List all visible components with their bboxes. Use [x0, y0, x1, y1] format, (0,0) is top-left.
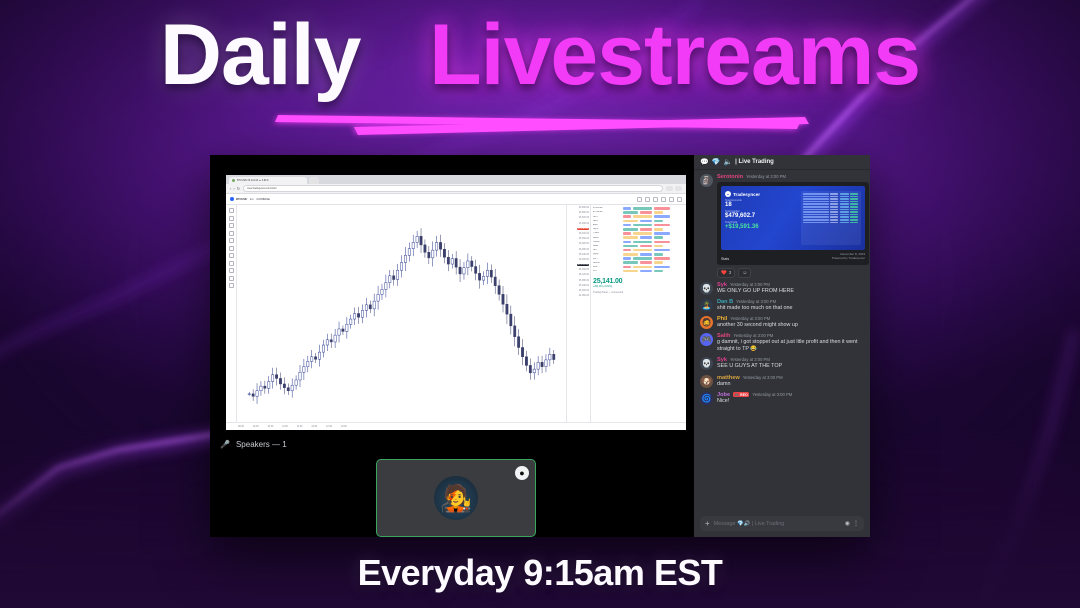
watchlist-value-bar [623, 232, 631, 235]
watchlist-value-bar [633, 249, 652, 252]
drawing-toolbar [226, 205, 237, 422]
message-timestamp: Yesterday at 3:00 PM [736, 299, 776, 304]
message-timestamp: Yesterday at 3:00 PM [752, 392, 792, 397]
author-badge: 🎮 RED [733, 392, 749, 397]
price-tick: 24,960.00 [579, 295, 589, 297]
chat-message[interactable]: 💀SykYesterday at 3:00 PMWE ONLY GO UP FR… [700, 282, 864, 295]
symbol-selector[interactable]: BTCUSD [230, 197, 247, 201]
stat2-value: $479,602.7 [725, 213, 801, 219]
watchlist-value-bar [623, 211, 638, 214]
fib-tool-icon[interactable] [229, 223, 234, 228]
browser-tab-new[interactable] [309, 177, 319, 184]
embed-table-row [803, 193, 859, 195]
message-list[interactable]: 🗿SerotoninYesterday at 3:00 PM◓Tradesync… [694, 170, 870, 512]
title-block: Daily Livestreams [0, 10, 1080, 142]
watchlist-value-bar [623, 228, 638, 231]
embed-table-row [803, 211, 859, 213]
embed-table-row [803, 196, 859, 198]
watchlist-value-bar [640, 253, 652, 256]
watchlist-value-bar [623, 253, 638, 256]
message-author[interactable]: Serotonin [717, 174, 743, 180]
eye-tool-icon[interactable] [229, 276, 234, 281]
message-timestamp: Yesterday at 3:00 PM [730, 316, 770, 321]
watchlist-value-bar [654, 224, 670, 227]
tradingview-icon [232, 179, 235, 182]
reaction-emoji: ❤️ [721, 270, 727, 276]
watchlist-value-bar [654, 232, 670, 235]
magnet-tool-icon[interactable] [229, 261, 234, 266]
text-tool-icon[interactable] [229, 238, 234, 243]
watchlist-value-bar [623, 224, 631, 227]
watchlist-value-bar [623, 270, 638, 273]
message-body: matthewYesterday at 3:00 PMdamn [717, 375, 864, 388]
watchlist-value-bar [654, 266, 670, 269]
watchlist-symbol: NVDA [593, 241, 621, 243]
message-text: g damnit, i got stoppet out at just litl… [717, 339, 864, 353]
price-tick: 25,120.00 [579, 274, 589, 276]
title-underline [260, 96, 820, 142]
time-tick: 09:30 [238, 426, 244, 428]
message-input[interactable]: + Message 💎🔊 | Live Trading ◉ ⋮ [700, 516, 864, 531]
watchlist-value-bar [654, 249, 670, 252]
message-author[interactable]: Syk [717, 282, 727, 288]
price-tick: 25,200.00 [579, 259, 589, 261]
last-price-block: 25,141.00 +201.00 (+0.81%) Trading Panel… [593, 278, 684, 294]
price-tick: 25,320.00 [579, 243, 589, 245]
watchlist-value-bar [640, 270, 652, 273]
message-body: SerotoninYesterday at 3:00 PM◓Tradesynce… [717, 174, 864, 278]
embed-brand: ◓Tradesyncer [725, 191, 801, 197]
watchlist-value-bar [623, 207, 631, 210]
add-attachment-icon[interactable]: + [705, 520, 710, 528]
message-text: shit made too much on that one [717, 305, 864, 312]
embed-image: ◓TradesyncerTotal Accounts18Total Capita… [721, 186, 865, 250]
stat3-value: +$19,591.36 [725, 224, 801, 230]
watchlist-value-bar [633, 224, 652, 227]
browser-tab-title: BTCUSD 25,141.00 ▲ 0.81% [237, 179, 269, 182]
watchlist-value-bar [654, 261, 663, 264]
screen-share-pane: BTCUSD 25,141.00 ▲ 0.81% ‹ › ↻ www.tradi… [210, 155, 694, 537]
emoji-icon[interactable]: ◉ [845, 520, 850, 527]
watchlist-value-bar [654, 245, 663, 248]
embed-table-row [803, 214, 859, 216]
watchlist-value-bar [654, 211, 663, 214]
time-tick: 13:00 [341, 426, 347, 428]
title-word-daily: Daily [160, 7, 361, 103]
add-reaction-icon[interactable]: ☺ [738, 268, 751, 278]
browser-url-bar: ‹ › ↻ www.tradingview.com/chart/ [226, 184, 686, 194]
trendline-tool-icon[interactable] [229, 216, 234, 221]
message-text: WE ONLY GO UP FROM HERE [717, 288, 864, 295]
watchlist-value-bar [654, 236, 663, 239]
watchlist-value-bar [623, 215, 631, 218]
price-tick: 25,440.00 [577, 228, 589, 230]
watchlist-row[interactable]: NVDA [593, 241, 684, 244]
cursor-tool-icon[interactable] [229, 208, 234, 213]
watchlist-symbol: SPX [593, 216, 621, 218]
chat-message[interactable]: 🎮SalihYesterday at 3:00 PMg damnit, i go… [700, 333, 864, 353]
chat-message[interactable]: 💀SykYesterday at 3:00 PMSEE U GUYS AT TH… [700, 357, 864, 370]
price-tick: 25,480.00 [579, 223, 589, 225]
message-timestamp: Yesterday at 3:00 PM [743, 375, 783, 380]
avatar[interactable]: 🎮 [700, 333, 713, 346]
symbol-label: BTCUSD [236, 198, 247, 201]
browser-nav-controls: ‹ › ↻ [230, 187, 240, 191]
watchlist-value-bar [654, 220, 663, 223]
watchlist-value-bar [633, 241, 652, 244]
watchlist-row[interactable]: SPX [593, 215, 684, 218]
price-tick: 25,400.00 [579, 233, 589, 235]
forward-icon[interactable]: › [233, 187, 234, 191]
measure-tool-icon[interactable] [229, 253, 234, 258]
chart-footer-note: Trading Panel — Connected [593, 291, 684, 294]
price-tick: 25,000.00 [579, 290, 589, 292]
watchlist-value-bar [623, 236, 638, 239]
message-timestamp: Yesterday at 3:00 PM [746, 174, 786, 179]
price-axis[interactable]: 25,600.0025,560.0025,520.0025,480.0025,4… [566, 205, 590, 422]
embed-table-row [803, 216, 859, 218]
message-text: another 30 second might show up [717, 322, 864, 329]
price-tick: 25,600.00 [579, 207, 589, 209]
settings-icon[interactable] [669, 197, 674, 202]
avatar[interactable]: 🌀 [700, 392, 713, 405]
tradingview-browser-screenshot: BTCUSD 25,141.00 ▲ 0.81% ‹ › ↻ www.tradi… [226, 175, 686, 430]
time-tick: 11:30 [297, 426, 303, 428]
watchlist-value-bar [640, 261, 652, 264]
watchlist-symbol: ES1! [593, 224, 621, 226]
chat-input-wrap: + Message 💎🔊 | Live Trading ◉ ⋮ [694, 512, 870, 537]
browser-tab-active[interactable]: BTCUSD 25,141.00 ▲ 0.81% [229, 177, 307, 184]
profile-icon[interactable] [675, 186, 682, 191]
watchlist-symbol: NQ1! [593, 228, 621, 230]
watchlist-value-bar [623, 220, 638, 223]
watchlist-symbol: BTCUSD [593, 207, 621, 209]
alert-icon[interactable] [645, 197, 650, 202]
watchlist-symbol: TSLA [593, 232, 621, 234]
deafened-icon: ● [515, 466, 529, 480]
watchlist-symbol: GOLD [593, 262, 621, 264]
shapes-tool-icon[interactable] [229, 231, 234, 236]
last-price: 25,141.00 [593, 278, 684, 285]
reaction-count: 3 [729, 270, 732, 275]
watchlist-value-bar [640, 245, 652, 248]
candlestick-series [237, 205, 566, 422]
watchlist-row[interactable]: AAPL [593, 236, 684, 239]
watchlist-value-bar [633, 232, 652, 235]
extension-icon[interactable] [666, 186, 673, 191]
watchlist-value-bar [623, 266, 631, 269]
watchlist-row[interactable]: ES1! [593, 224, 684, 227]
watchlist-value-bar [654, 241, 670, 244]
message-author[interactable]: matthew [717, 375, 740, 381]
watchlist-row[interactable]: NDX [593, 220, 684, 223]
speakers-label: Speakers — 1 [236, 440, 287, 449]
watchlist-value-bar [640, 236, 652, 239]
watchlist-row[interactable]: NQ1! [593, 228, 684, 231]
discord-chat-panel: 💬 💎 🔈 | Live Trading 🗿SerotoninYesterday… [694, 155, 870, 537]
speech-bubble-icon: 💬 [700, 159, 709, 166]
message-timestamp: Yesterday at 3:00 PM [733, 333, 773, 338]
time-axis[interactable]: 09:3010:0010:3011:0011:3012:0012:3013:00 [226, 422, 686, 430]
watchlist-symbol: DXY [593, 258, 621, 260]
embed-brand-name: Tradesyncer [733, 192, 760, 197]
mic-icon: 🎤 [220, 440, 230, 449]
watchlist-symbol: ETHUSD [593, 211, 621, 213]
message-body: SykYesterday at 3:00 PMSEE U GUYS AT THE… [717, 357, 864, 370]
message-body: Jobe🎮 REDYesterday at 3:00 PMNice! [717, 392, 864, 405]
chat-message[interactable]: 🏝️Dan BYesterday at 3:00 PMshit made too… [700, 299, 864, 312]
avatar[interactable]: 🗿 [700, 174, 713, 187]
watchlist-row[interactable]: QQQ [593, 253, 684, 256]
watchlist-panel[interactable]: BTCUSDETHUSDSPXNDXES1!NQ1!TSLAAAPLNVDAAM… [590, 205, 686, 422]
url-input[interactable]: www.tradingview.com/chart/ [243, 185, 663, 192]
watchlist-row[interactable]: SPY [593, 249, 684, 252]
input-actions: ◉ ⋮ [845, 520, 859, 527]
embed-table-row [803, 203, 859, 205]
time-tick: 10:30 [268, 426, 274, 428]
current-price-tag: 25,141.00 [577, 264, 589, 266]
embed-table-row [803, 222, 859, 224]
watchlist-value-bar [633, 207, 652, 210]
watchlist-value-bar [640, 220, 652, 223]
watchlist-symbol: AMD [593, 245, 621, 247]
layout-icon[interactable] [661, 197, 666, 202]
avatar[interactable]: 🐶 [700, 375, 713, 388]
watchlist-row[interactable]: BTCUSD [593, 207, 684, 210]
watchlist-value-bar [633, 215, 652, 218]
watchlist-symbol: CL1! [593, 266, 621, 268]
watchlist-rows: BTCUSDETHUSDSPXNDXES1!NQ1!TSLAAAPLNVDAAM… [593, 207, 684, 272]
time-tick: 12:30 [326, 426, 332, 428]
symbol-icon [230, 197, 234, 201]
watchlist-value-bar [654, 207, 670, 210]
replay-icon[interactable] [653, 197, 658, 202]
watchlist-symbol: QQQ [593, 253, 621, 255]
embed-table-row [803, 198, 859, 200]
watchlist-value-bar [623, 241, 631, 244]
embed-table-row [803, 219, 859, 221]
embed-footer: StatsDecember 8, 2023Powered by Tradesyn… [721, 253, 865, 261]
watchlist-row[interactable]: CL1! [593, 266, 684, 269]
chart-body: 25,600.0025,560.0025,520.0025,480.0025,4… [226, 205, 686, 422]
price-tick: 25,080.00 [579, 280, 589, 282]
watchlist-value-bar [633, 266, 652, 269]
interval-selector[interactable]: 1m [250, 198, 254, 201]
more-icon[interactable]: ⋮ [853, 520, 859, 527]
app-screenshot-window: BTCUSD 25,141.00 ▲ 0.81% ‹ › ↻ www.tradi… [210, 155, 870, 537]
channel-name: | Live Trading [735, 159, 774, 165]
price-tick: 25,240.00 [579, 254, 589, 256]
watchlist-row[interactable]: DXY [593, 257, 684, 260]
avatar[interactable]: 💀 [700, 357, 713, 370]
chat-message[interactable]: 🧔PhilYesterday at 3:00 PManother 30 seco… [700, 316, 864, 329]
caption-text: Everyday 9:15am EST [0, 552, 1080, 594]
avatar[interactable]: 🏝️ [700, 299, 713, 312]
message-body: Dan BYesterday at 3:00 PMshit made too m… [717, 299, 864, 312]
watchlist-row[interactable]: GOLD [593, 261, 684, 264]
watchlist-row[interactable]: VIX [593, 270, 684, 273]
watchlist-symbol: SPY [593, 249, 621, 251]
watchlist-row[interactable]: AMD [593, 245, 684, 248]
reaction-chip[interactable]: ❤️3 [717, 268, 735, 278]
browser-tab-bar: BTCUSD 25,141.00 ▲ 0.81% [226, 175, 686, 184]
price-tick: 25,360.00 [579, 238, 589, 240]
speaker-icon: 🔈 [723, 159, 732, 166]
time-tick: 12:00 [311, 426, 317, 428]
chat-message[interactable]: 🌀Jobe🎮 REDYesterday at 3:00 PMNice! [700, 392, 864, 405]
watchlist-row[interactable]: TSLA [593, 232, 684, 235]
watchlist-value-bar [623, 249, 631, 252]
message-body: SykYesterday at 3:00 PMWE ONLY GO UP FRO… [717, 282, 864, 295]
watchlist-value-bar [640, 211, 652, 214]
watchlist-value-bar [623, 245, 638, 248]
price-tick: 25,160.00 [579, 269, 589, 271]
pattern-tool-icon[interactable] [229, 246, 234, 251]
watchlist-value-bar [654, 270, 663, 273]
chart-toolbar: BTCUSD 1m COINBASE [226, 194, 686, 205]
title-word-livestreams: Livestreams [429, 7, 920, 103]
tradesyncer-logo-icon: ◓ [725, 191, 731, 197]
watchlist-value-bar [654, 215, 670, 218]
watchlist-value-bar [623, 257, 631, 260]
reaction-bar: ❤️3☺ [717, 268, 864, 278]
watchlist-symbol: AAPL [593, 237, 621, 239]
message-text: SEE U GUYS AT THE TOP [717, 363, 864, 370]
time-tick: 11:00 [282, 426, 288, 428]
price-tick: 25,040.00 [579, 285, 589, 287]
fullscreen-icon[interactable] [677, 197, 682, 202]
embed-table-row [803, 201, 859, 203]
reload-icon[interactable]: ↻ [237, 187, 240, 191]
message-text: damn [717, 381, 864, 388]
back-icon[interactable]: ‹ [230, 187, 231, 191]
stat1-value: 18 [725, 202, 801, 208]
price-tick: 25,560.00 [579, 212, 589, 214]
embed-footer-meta: December 8, 2023Powered by Tradesyncer [832, 253, 865, 261]
chat-header: 💬 💎 🔈 | Live Trading [694, 155, 870, 170]
chat-message[interactable]: 🗿SerotoninYesterday at 3:00 PM◓Tradesync… [700, 174, 864, 278]
participant-video-tile[interactable]: 🧑‍🎤 ● [376, 459, 536, 537]
message-placeholder: Message 💎🔊 | Live Trading [714, 521, 785, 527]
lock-tool-icon[interactable] [229, 268, 234, 273]
diamond-icon: 💎 [712, 159, 721, 166]
watchlist-value-bar [633, 257, 652, 260]
message-text: Nice! [717, 398, 864, 405]
message-timestamp: Yesterday at 3:00 PM [730, 357, 770, 362]
price-change: +201.00 (+0.81%) [593, 285, 684, 288]
speakers-bar: 🎤 Speakers — 1 [210, 435, 694, 453]
watchlist-row[interactable]: ETHUSD [593, 211, 684, 214]
trash-tool-icon[interactable] [229, 283, 234, 288]
watchlist-value-bar [640, 228, 652, 231]
candlestick-plot[interactable] [237, 205, 566, 422]
watchlist-value-bar [654, 228, 663, 231]
exchange-label: COINBASE [256, 198, 269, 201]
message-header: SerotoninYesterday at 3:00 PM [717, 174, 864, 180]
message-body: PhilYesterday at 3:00 PManother 30 secon… [717, 316, 864, 329]
message-body: SalihYesterday at 3:00 PMg damnit, i got… [717, 333, 864, 353]
watchlist-value-bar [654, 253, 663, 256]
embed-stats: ◓TradesyncerTotal Accounts18Total Capita… [725, 191, 801, 245]
avatar[interactable]: 🧔 [700, 316, 713, 329]
chart-toolbar-right [637, 197, 682, 202]
price-tick: 25,280.00 [579, 249, 589, 251]
indicators-icon[interactable] [637, 197, 642, 202]
watchlist-value-bar [654, 257, 670, 260]
watchlist-symbol: NDX [593, 220, 621, 222]
avatar: 🧑‍🎤 [434, 476, 478, 520]
message-embed[interactable]: ◓TradesyncerTotal Accounts18Total Capita… [717, 182, 869, 265]
watchlist-symbol: VIX [593, 270, 621, 272]
embed-table [801, 191, 861, 245]
embed-table-row [803, 209, 859, 211]
page-title: Daily Livestreams [0, 10, 1080, 100]
chat-message[interactable]: 🐶matthewYesterday at 3:00 PMdamn [700, 375, 864, 388]
embed-footer-text: Stats [721, 257, 729, 261]
message-author[interactable]: Jobe [717, 392, 730, 398]
avatar[interactable]: 💀 [700, 282, 713, 295]
watchlist-value-bar [623, 261, 638, 264]
message-timestamp: Yesterday at 3:00 PM [730, 282, 770, 287]
time-tick: 10:00 [253, 426, 259, 428]
embed-table-row [803, 206, 859, 208]
price-tick: 25,520.00 [579, 217, 589, 219]
browser-extensions [666, 186, 682, 191]
